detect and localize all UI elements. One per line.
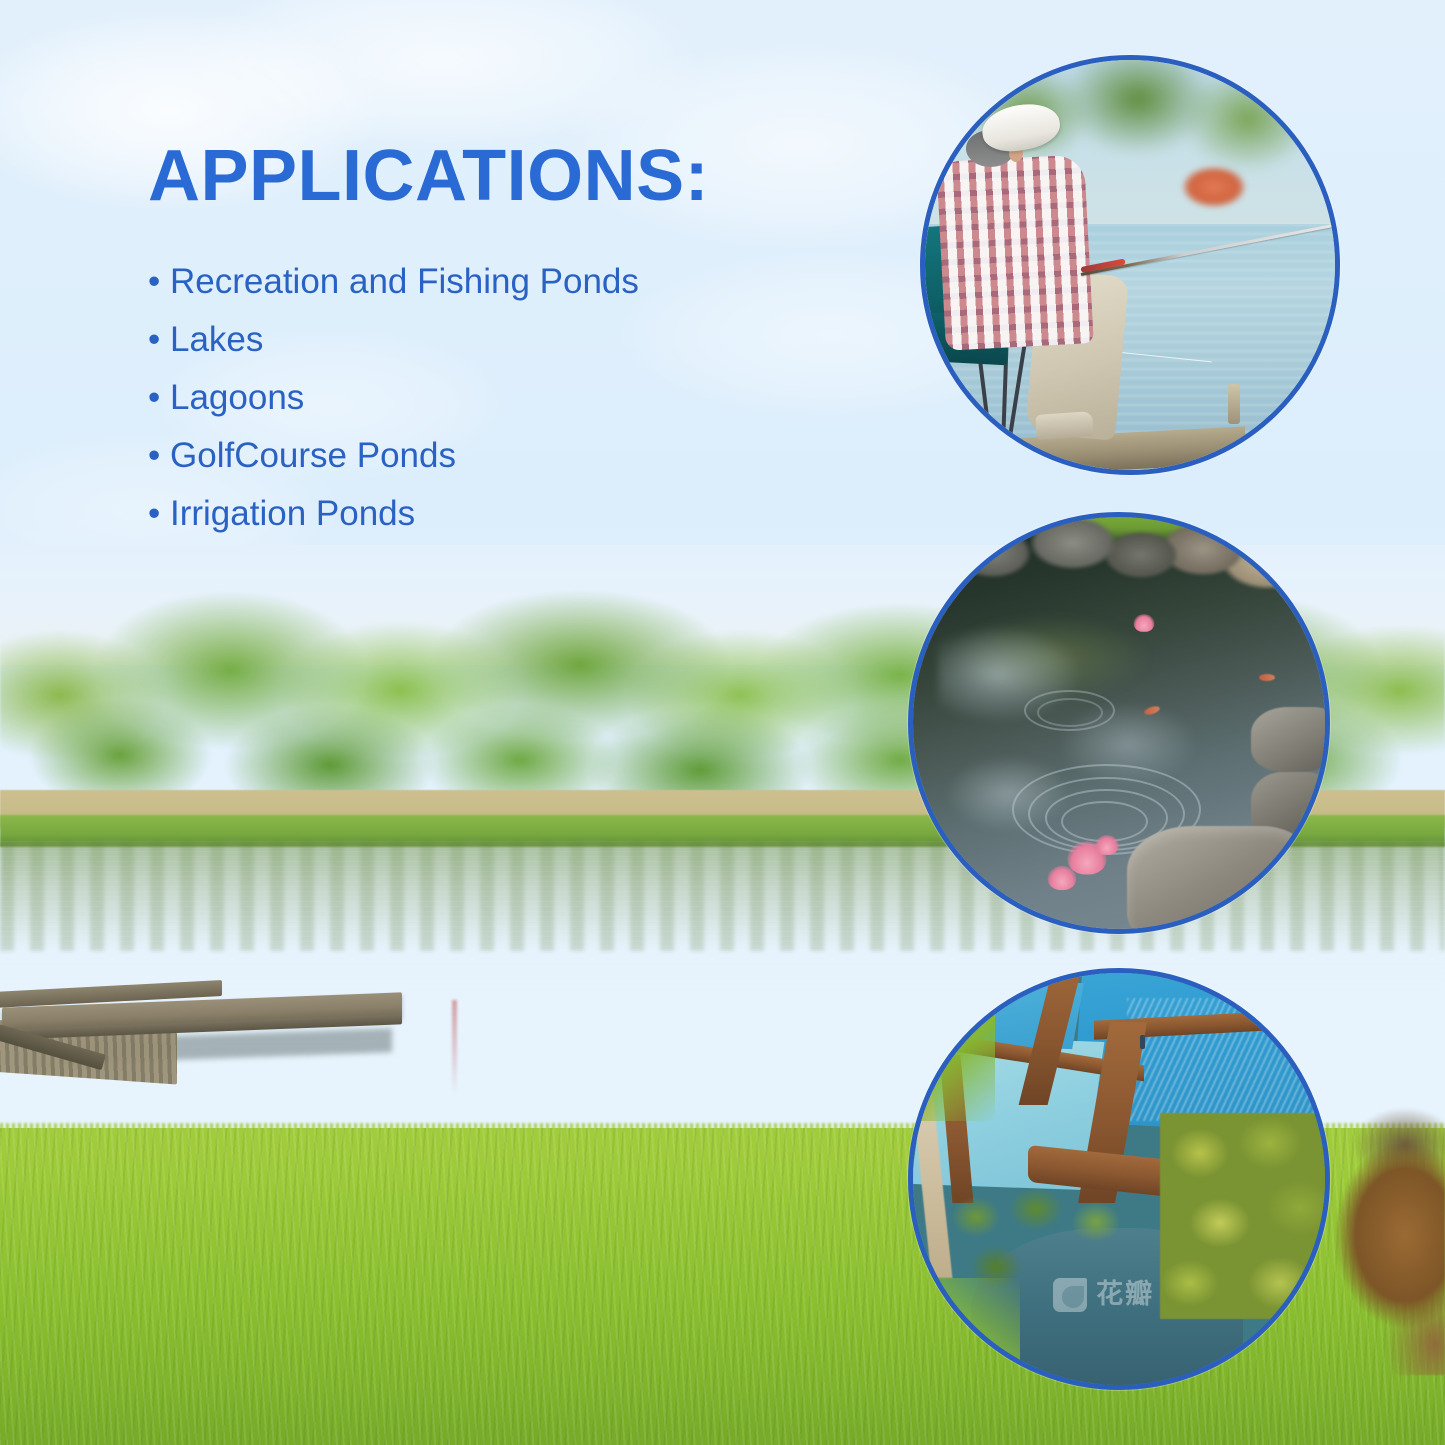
grass-edge bbox=[908, 1278, 1020, 1390]
bullet-icon: • bbox=[148, 438, 170, 473]
list-item: • Lakes bbox=[148, 322, 908, 357]
water-lily bbox=[1048, 866, 1077, 890]
koi-pond-photo bbox=[908, 512, 1330, 934]
irrigation-ponds-aerial-photo: 花瓣 bbox=[908, 968, 1330, 1390]
fishing-photo bbox=[920, 55, 1340, 475]
koi-fish bbox=[1259, 674, 1275, 681]
wooden-dock bbox=[0, 982, 412, 1092]
bullet-icon: • bbox=[148, 322, 170, 357]
list-item: • Recreation and Fishing Ponds bbox=[148, 264, 908, 299]
grass-edge bbox=[908, 968, 995, 1121]
bullet-icon: • bbox=[148, 496, 170, 531]
list-item: • Lagoons bbox=[148, 380, 908, 415]
list-item-label: Recreation and Fishing Ponds bbox=[170, 264, 639, 299]
dock-post bbox=[1228, 384, 1240, 424]
list-item: • Irrigation Ponds bbox=[148, 496, 908, 531]
vegetation-band bbox=[1160, 1113, 1330, 1319]
bullet-icon: • bbox=[148, 380, 170, 415]
angler-shoe bbox=[1035, 411, 1094, 440]
list-item-label: Lakes bbox=[170, 322, 263, 357]
applications-poster: APPLICATIONS: • Recreation and Fishing P… bbox=[0, 0, 1445, 1445]
cloud-wisp bbox=[180, 0, 700, 150]
boulder bbox=[1251, 707, 1330, 773]
water-lily bbox=[1134, 614, 1155, 632]
applications-text-column: APPLICATIONS: • Recreation and Fishing P… bbox=[148, 140, 908, 554]
list-item-label: Irrigation Ponds bbox=[170, 496, 415, 531]
person-figure bbox=[1140, 1035, 1145, 1049]
foreground-boulder bbox=[1127, 826, 1308, 934]
plaid-shirt bbox=[937, 155, 1094, 351]
water-lily bbox=[1096, 835, 1119, 855]
page-title: APPLICATIONS: bbox=[148, 140, 908, 212]
red-marker-reflection bbox=[452, 1000, 457, 1095]
bullet-icon: • bbox=[148, 264, 170, 299]
list-item-label: GolfCourse Ponds bbox=[170, 438, 456, 473]
orange-buoy bbox=[1183, 167, 1245, 207]
list-item-label: Lagoons bbox=[170, 380, 304, 415]
water-ripple bbox=[1037, 698, 1103, 727]
applications-list: • Recreation and Fishing Ponds • Lakes •… bbox=[148, 264, 908, 531]
stone-border-top bbox=[913, 512, 1325, 608]
list-item: • GolfCourse Ponds bbox=[148, 438, 908, 473]
